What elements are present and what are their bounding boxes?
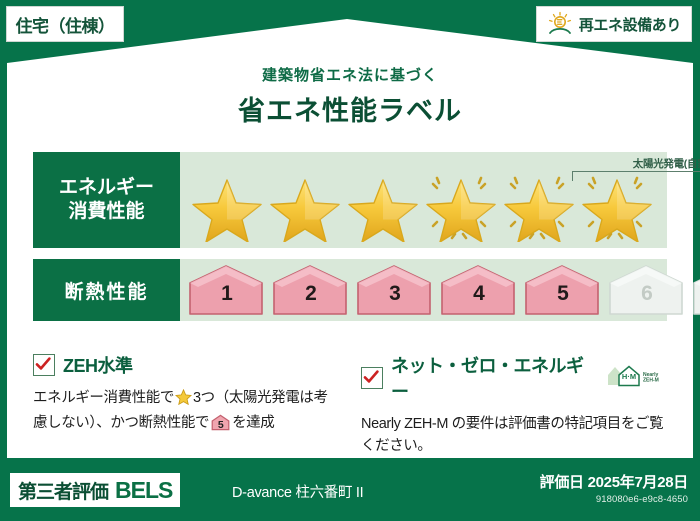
star-solar <box>578 170 656 244</box>
note-net-zero-energy: ネット・ゼロ・エネルギー H·M Nearly ZEH-M Nearly ZEH… <box>361 352 667 458</box>
zeh-standard-body: エネルギー消費性能で 3つ（太陽光発電は考慮しない）、かつ断熱性能で 5 を達成 <box>33 387 339 435</box>
sun-solar-icon <box>547 11 573 37</box>
star-solar <box>500 170 578 244</box>
bels-badge: 第三者評価 BELS <box>10 473 180 507</box>
insulation-level-active: 4 <box>440 264 518 316</box>
insulation-house-icon-inline: 5 <box>211 414 230 431</box>
energy-stars-panel: 太陽光発電(自家消費)分 <box>180 152 667 248</box>
zeh-body-part1: エネルギー消費性能で <box>33 390 174 406</box>
star-rating <box>180 170 667 244</box>
renewable-equipment-badge: 再エネ設備あり <box>536 6 692 42</box>
zeh-body-part3: を達成 <box>232 415 274 431</box>
inline-house-value: 5 <box>211 417 230 433</box>
insulation-level-active: 1 <box>188 264 266 316</box>
label-heading: 建築物省エネ法に基づく 省エネ性能ラベル <box>0 64 700 128</box>
star-solar <box>422 170 500 244</box>
insulation-performance-label: 断熱性能 <box>33 259 180 321</box>
solar-annotation-label: 太陽光発電(自家消費)分 <box>633 158 700 170</box>
energy-performance-row: エネルギー消費性能 太陽光発電(自家消費)分 <box>33 152 667 248</box>
note-title-row: ZEH水準 <box>33 352 339 378</box>
check-mark-icon <box>33 354 55 376</box>
bels-prefix: 第三者評価 <box>18 477 108 504</box>
insulation-level-active: 3 <box>356 264 434 316</box>
insulation-level-inactive: 6 <box>608 264 686 316</box>
energy-performance-label: エネルギー消費性能 <box>33 152 180 248</box>
notes-section: ZEH水準 エネルギー消費性能で 3つ（太陽光発電は考慮しない）、かつ断熱性能で… <box>33 352 667 458</box>
zeh-standard-title: ZEH水準 <box>63 352 133 378</box>
star-filled <box>344 170 422 244</box>
note-title-row: ネット・ゼロ・エネルギー H·M Nearly ZEH-M <box>361 352 667 404</box>
note-zeh-standard: ZEH水準 エネルギー消費性能で 3つ（太陽光発電は考慮しない）、かつ断熱性能で… <box>33 352 339 458</box>
insulation-level-scale: 1 2 3 4 5 6 7 <box>188 264 700 316</box>
svg-text:H·M: H·M <box>622 372 636 381</box>
evaluation-date-block: 評価日 2025年7月28日 918080e6-e9c8-4650 <box>540 471 688 505</box>
insulation-levels-panel: 1 2 3 4 5 6 7 <box>180 259 667 321</box>
star-filled <box>266 170 344 244</box>
building-name: D-avance 柱六番町 II <box>232 481 363 502</box>
insulation-performance-row: 断熱性能 1 2 3 4 5 6 7 <box>33 259 667 321</box>
nearly-zeh-m-logo: H·M Nearly ZEH-M <box>605 363 667 394</box>
renewable-badge-label: 再エネ設備あり <box>579 14 681 35</box>
heading-title: 省エネ性能ラベル <box>0 89 700 128</box>
svg-text:ZEH-M: ZEH-M <box>643 377 659 383</box>
bels-name: BELS <box>115 477 172 504</box>
footer-bar: 第三者評価 BELS D-avance 柱六番町 II 評価日 2025年7月2… <box>0 463 700 521</box>
building-type-label: 住宅（住棟） <box>16 12 115 37</box>
reference-id: 918080e6-e9c8-4650 <box>540 494 688 505</box>
insulation-level-active: 5 <box>524 264 602 316</box>
net-zero-energy-body: Nearly ZEH-M の要件は評価書の特記項目をご覧ください。 <box>361 413 667 458</box>
heading-subtitle: 建築物省エネ法に基づく <box>0 64 700 85</box>
insulation-level-active: 2 <box>272 264 350 316</box>
insulation-level-inactive: 7 <box>692 264 700 316</box>
check-mark-icon <box>361 367 383 389</box>
building-type-tag: 住宅（住棟） <box>6 6 124 42</box>
evaluation-date: 評価日 2025年7月28日 <box>540 471 688 492</box>
energy-performance-label: 住宅（住棟） 再エネ設備あり 建築物省エネ法に基づく 省エネ性能ラベル エネルギ… <box>0 0 700 521</box>
star-filled <box>188 170 266 244</box>
net-zero-energy-title: ネット・ゼロ・エネルギー <box>391 352 594 404</box>
star-icon <box>175 389 192 412</box>
